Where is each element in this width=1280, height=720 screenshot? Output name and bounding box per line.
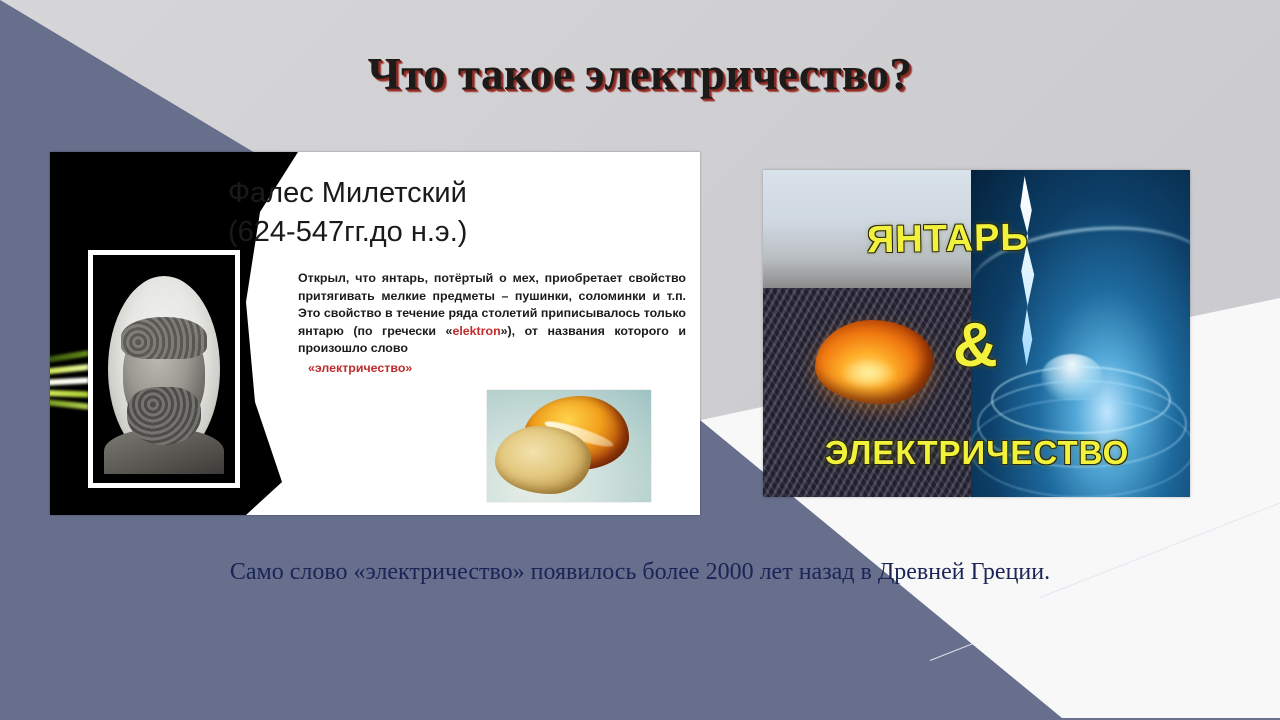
card-body-highlight-electricity: «электричество» (308, 360, 686, 378)
card-heading-line-2: (624-547гг.до н.э.) (228, 213, 678, 252)
overlay-text-ampersand: & (953, 310, 999, 381)
card-body-highlight-elektron: elektron (452, 324, 500, 338)
presentation-slide: Что такое электричество? Фалес Милетский… (0, 0, 1280, 720)
card-heading-line-1: Фалес Милетский (228, 174, 678, 213)
slide-caption: Само слово «электричество» появилось бол… (60, 558, 1220, 587)
amber-piece-small (495, 426, 591, 494)
slide-title: Что такое электричество? (150, 50, 1130, 100)
overlay-text-electricity: ЭЛЕКТРИЧЕСТВО (825, 434, 1129, 472)
amber-stone-photo (487, 390, 651, 502)
card-heading: Фалес Милетский (624-547гг.до н.э.) (228, 174, 678, 251)
overlay-text-amber: ЯНТАРЬ (867, 217, 1029, 263)
card-body-text: Открыл, что янтарь, потёртый о мех, прио… (298, 270, 686, 378)
portrait-beard (127, 387, 201, 445)
amber-inner-glow (841, 358, 897, 388)
thales-portrait-frame (88, 250, 240, 488)
amber-and-electricity-image: ЯНТАРЬ & ЭЛЕКТРИЧЕСТВО (763, 170, 1190, 497)
portrait-hair (121, 317, 207, 359)
thales-portrait-image (93, 255, 235, 483)
thales-info-card: Фалес Милетский (624-547гг.до н.э.) Откр… (50, 152, 700, 515)
